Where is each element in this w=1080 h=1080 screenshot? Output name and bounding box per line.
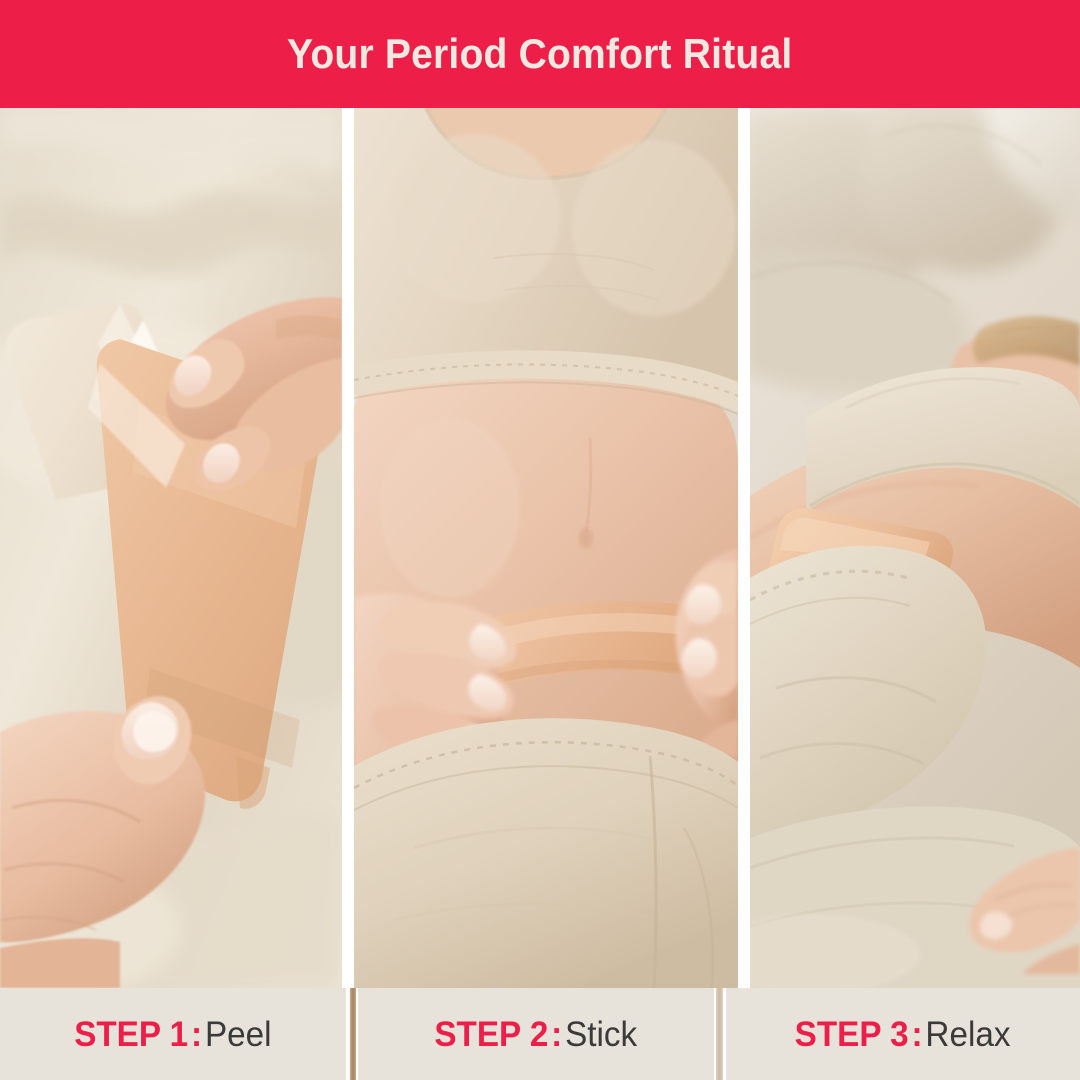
step-label-relax: STEP 3:Relax — [726, 988, 1080, 1080]
step-image-stick — [354, 108, 738, 988]
header-banner: Your Period Comfort Ritual — [0, 0, 1080, 108]
panel-strip — [0, 108, 1080, 988]
step-3-word: Relax — [926, 1015, 1011, 1054]
peel-illustration — [0, 108, 342, 988]
step-3-label: STEP 3:Relax — [795, 1017, 1011, 1052]
step-label-bar: STEP 1:Peel STEP 2:Stick STEP 3:Relax — [0, 988, 1080, 1080]
footer-divider-left — [350, 988, 356, 1080]
step-image-relax — [750, 108, 1080, 988]
step-1-key: STEP 1 — [74, 1015, 188, 1054]
relax-illustration — [750, 108, 1080, 988]
step-label-stick: STEP 2:Stick — [358, 988, 714, 1080]
step-2-label: STEP 2:Stick — [435, 1017, 638, 1052]
step-2-key: STEP 2 — [435, 1015, 549, 1054]
step-image-peel — [0, 108, 342, 988]
step-2-word: Stick — [565, 1015, 637, 1054]
step-1-label: STEP 1:Peel — [74, 1017, 271, 1052]
step-1-colon: : — [188, 1015, 205, 1054]
step-1-word: Peel — [205, 1015, 272, 1054]
step-2-colon: : — [549, 1015, 566, 1054]
footer-divider-right — [716, 988, 723, 1080]
page-title: Your Period Comfort Ritual — [287, 33, 792, 75]
step-3-colon: : — [909, 1015, 926, 1054]
stick-illustration — [354, 108, 738, 988]
infographic-page: Your Period Comfort Ritual — [0, 0, 1080, 1080]
bralette — [354, 108, 738, 414]
leggings — [354, 718, 738, 988]
step-3-key: STEP 3 — [795, 1015, 909, 1054]
step-label-peel: STEP 1:Peel — [0, 988, 346, 1080]
